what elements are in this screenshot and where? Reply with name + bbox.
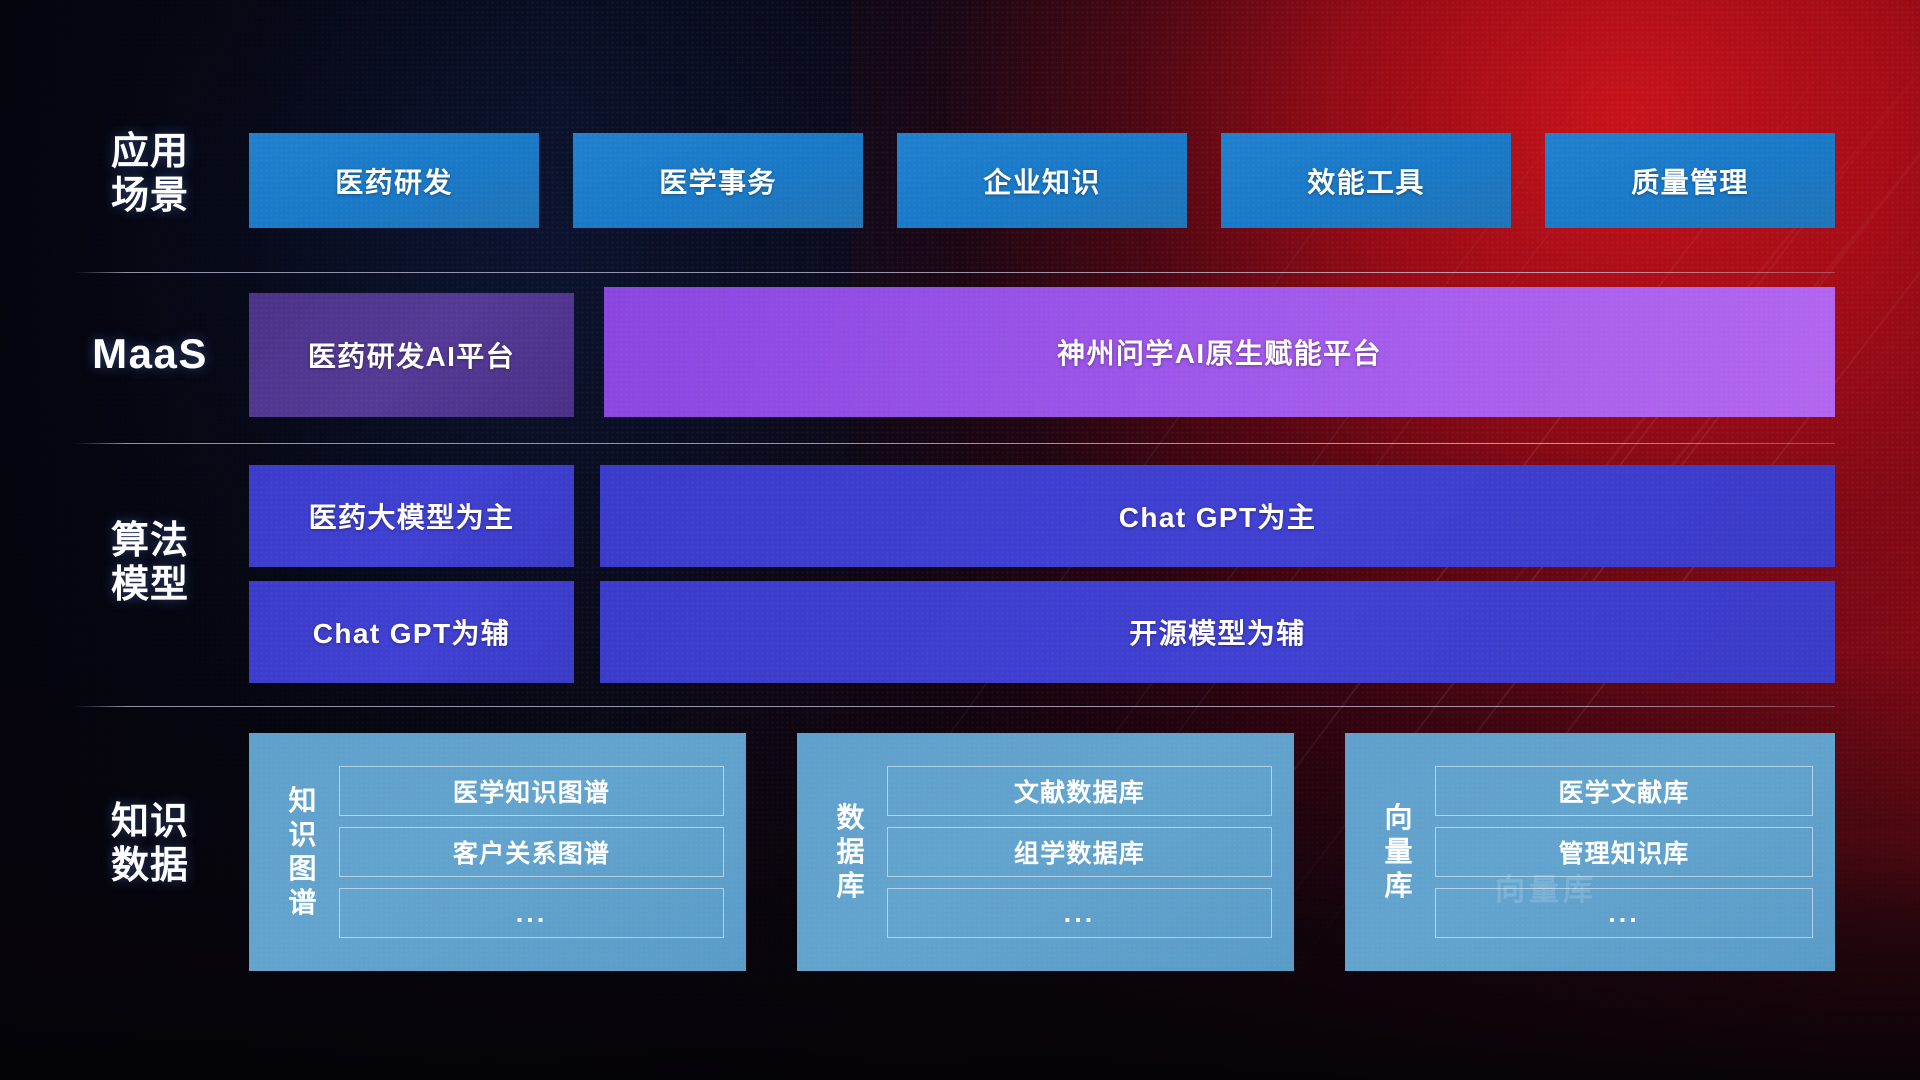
knowledge-group-knowledge-graph: 知 识 图 谱 医学知识图谱 客户关系图谱 ...	[249, 733, 746, 971]
app-box-efficiency-tools[interactable]: 效能工具	[1221, 133, 1511, 228]
knowledge-item-more-knowledge-graph[interactable]: ...	[339, 888, 724, 938]
row-label-application-scenario: 应用 场景	[75, 130, 225, 218]
knowledge-group-items-vector-store: 医学文献库 管理知识库 ...	[1435, 766, 1813, 938]
row-label-maas: MaaS	[75, 330, 225, 379]
knowledge-item-literature-database[interactable]: 文献数据库	[887, 766, 1272, 816]
row-label-knowledge-data: 知识 数据	[75, 800, 225, 888]
divider-after-algorithm-model	[75, 706, 1835, 707]
algo-box-chatgpt-secondary[interactable]: Chat GPT为辅	[249, 581, 574, 683]
knowledge-item-omics-database[interactable]: 组学数据库	[887, 827, 1272, 877]
algo-box-opensource-secondary[interactable]: 开源模型为辅	[600, 581, 1835, 683]
divider-after-maas	[75, 443, 1835, 444]
row-label-algorithm-model: 算法 模型	[75, 519, 225, 607]
app-box-medicine-rnd[interactable]: 医药研发	[249, 133, 539, 228]
knowledge-group-title-vector-store: 向 量 库	[1363, 801, 1435, 903]
app-box-enterprise-knowledge[interactable]: 企业知识	[897, 133, 1187, 228]
knowledge-item-medical-knowledge-graph[interactable]: 医学知识图谱	[339, 766, 724, 816]
knowledge-item-more-database[interactable]: ...	[887, 888, 1272, 938]
knowledge-item-customer-relation-graph[interactable]: 客户关系图谱	[339, 827, 724, 877]
app-box-medical-affairs[interactable]: 医学事务	[573, 133, 863, 228]
knowledge-group-items-database: 文献数据库 组学数据库 ...	[887, 766, 1272, 938]
maas-box-shenzhou-wenxue-platform[interactable]: 神州问学AI原生赋能平台	[604, 287, 1835, 417]
architecture-diagram-slide: 应用 场景 医药研发 医学事务 企业知识 效能工具 质量管理 MaaS 医药研发…	[0, 0, 1920, 1080]
knowledge-group-vector-store: 向 量 库 医学文献库 管理知识库 ...	[1345, 733, 1835, 971]
knowledge-group-title-database: 数 据 库	[815, 801, 887, 903]
knowledge-group-items-knowledge-graph: 医学知识图谱 客户关系图谱 ...	[339, 766, 724, 938]
algo-box-chatgpt-primary[interactable]: Chat GPT为主	[600, 465, 1835, 567]
knowledge-group-title-knowledge-graph: 知 识 图 谱	[267, 784, 339, 921]
algo-box-medicine-llm-primary[interactable]: 医药大模型为主	[249, 465, 574, 567]
knowledge-item-management-knowledge-store[interactable]: 管理知识库	[1435, 827, 1813, 877]
knowledge-item-more-vector-store[interactable]: ...	[1435, 888, 1813, 938]
knowledge-item-medical-literature-store[interactable]: 医学文献库	[1435, 766, 1813, 816]
divider-after-application-scenario	[75, 272, 1835, 273]
maas-box-medicine-ai-platform[interactable]: 医药研发AI平台	[249, 293, 574, 417]
knowledge-group-database: 数 据 库 文献数据库 组学数据库 ...	[797, 733, 1294, 971]
app-box-quality-management[interactable]: 质量管理	[1545, 133, 1835, 228]
